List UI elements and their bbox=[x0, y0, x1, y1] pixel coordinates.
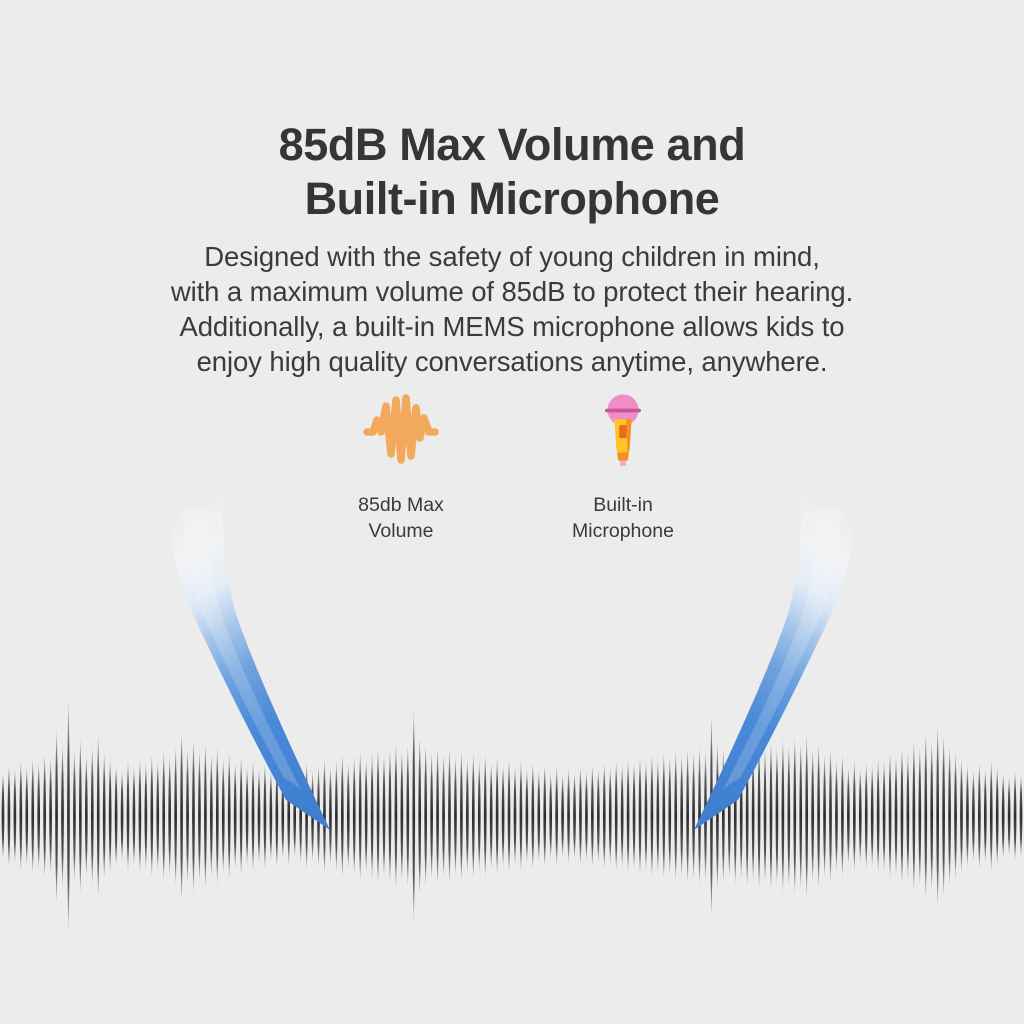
page-title-line-1: 85dB Max Volume and bbox=[0, 118, 1024, 172]
page-title: 85dB Max Volume and Built-in Microphone bbox=[0, 118, 1024, 226]
feature-label-line-2: Volume bbox=[358, 518, 444, 544]
description-line-1: Designed with the safety of young childr… bbox=[0, 239, 1024, 274]
sound-wave-icon bbox=[363, 392, 439, 468]
feature-label-max-volume: 85db Max Volume bbox=[358, 492, 444, 544]
feature-label-microphone: Built-in Microphone bbox=[572, 492, 674, 544]
description-line-4: enjoy high quality conversations anytime… bbox=[0, 344, 1024, 379]
kids-headphones-product bbox=[0, 500, 1024, 960]
feature-label-line-1: 85db Max bbox=[358, 492, 444, 518]
description-line-3: Additionally, a built-in MEMS microphone… bbox=[0, 309, 1024, 344]
page-title-line-2: Built-in Microphone bbox=[0, 172, 1024, 226]
headphone-left bbox=[168, 500, 377, 960]
headphone-right bbox=[647, 500, 856, 960]
feature-item-max-volume: 85db Max Volume bbox=[290, 392, 512, 552]
description-text: Designed with the safety of young childr… bbox=[0, 239, 1024, 379]
product-feature-panel: 85dB Max Volume and Built-in Microphone … bbox=[0, 0, 1024, 1024]
microphone-icon bbox=[599, 392, 647, 468]
feature-item-microphone: Built-in Microphone bbox=[512, 392, 734, 552]
feature-label-line-1: Built-in bbox=[572, 492, 674, 518]
feature-label-line-2: Microphone bbox=[572, 518, 674, 544]
description-line-2: with a maximum volume of 85dB to protect… bbox=[0, 274, 1024, 309]
